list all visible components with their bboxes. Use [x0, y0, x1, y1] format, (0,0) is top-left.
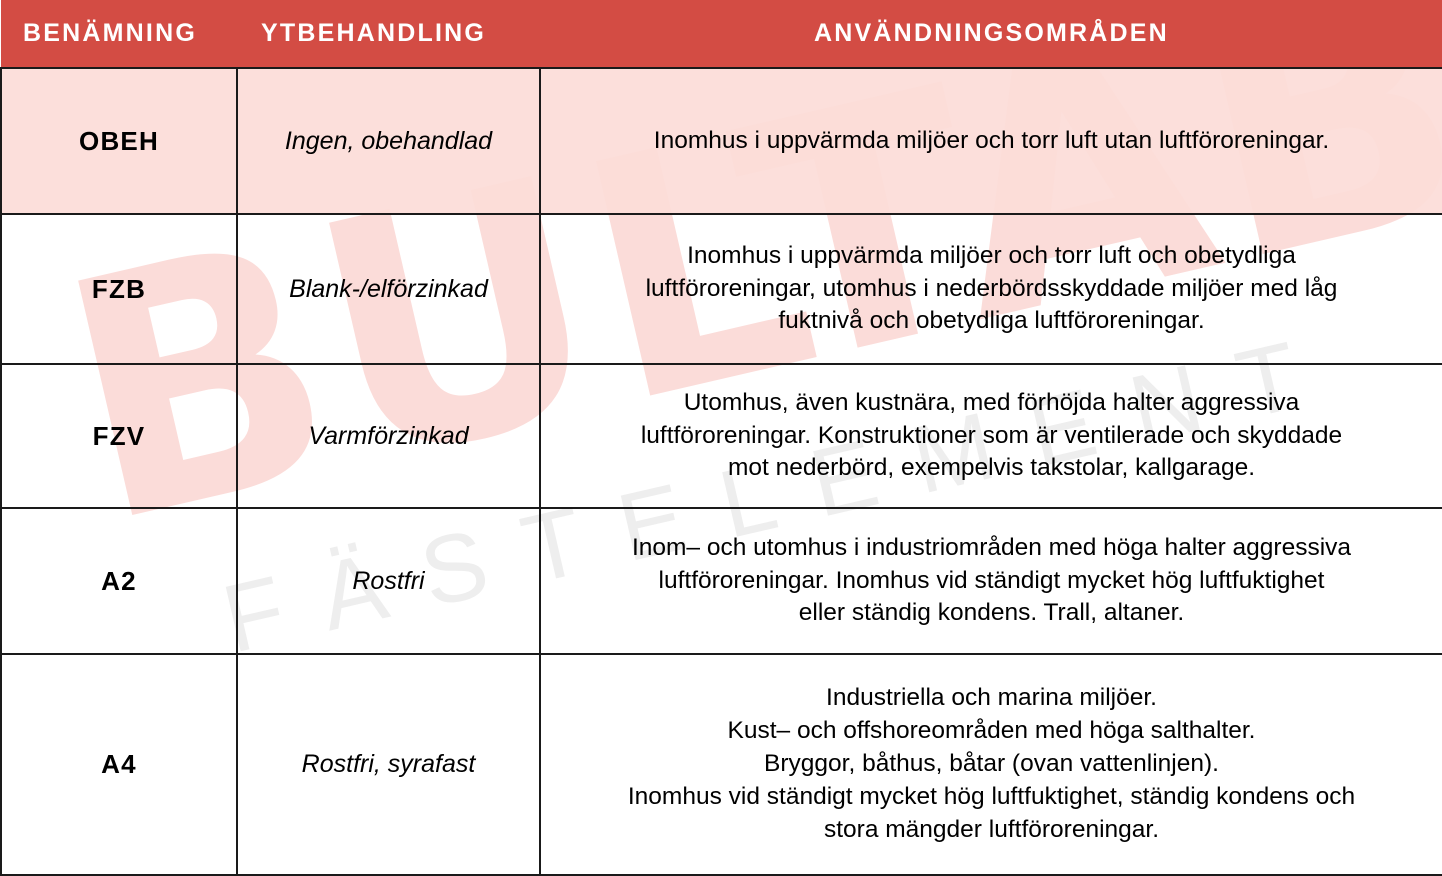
- cell-code: FZB: [1, 214, 237, 364]
- cell-surface-treatment: Rostfri, syrafast: [237, 654, 540, 875]
- usage-line: Kust– och offshoreområden med höga salth…: [557, 715, 1426, 748]
- usage-line: luftföroreningar. Inomhus vid ständigt m…: [557, 565, 1426, 598]
- surface-treatment-table-page: BULTAB FÄSTELEMENT BENÄMNING YTBEHANDLIN…: [0, 0, 1442, 876]
- cell-usage-areas: Inom– och utomhus i industriområden med …: [540, 508, 1442, 654]
- cell-code: A4: [1, 654, 237, 875]
- cell-usage-areas: Inomhus i uppvärmda miljöer och torr luf…: [540, 214, 1442, 364]
- usage-line: Industriella och marina miljöer.: [557, 682, 1426, 715]
- usage-line: Inomhus i uppvärmda miljöer och torr luf…: [557, 125, 1426, 158]
- column-header-ytbehandling: YTBEHANDLING: [237, 0, 540, 68]
- usage-line: Inomhus i uppvärmda miljöer och torr luf…: [557, 240, 1426, 273]
- table-row: FZV Varmförzinkad Utomhus, även kustnära…: [1, 364, 1442, 508]
- usage-line: mot nederbörd, exempelvis takstolar, kal…: [557, 452, 1426, 485]
- usage-line: Bryggor, båthus, båtar (ovan vattenlinje…: [557, 748, 1426, 781]
- usage-line: fuktnivå och obetydliga luftföroreningar…: [557, 305, 1426, 338]
- table-body: OBEH Ingen, obehandlad Inomhus i uppvärm…: [1, 68, 1442, 875]
- cell-surface-treatment: Varmförzinkad: [237, 364, 540, 508]
- column-header-anvandningsomraden: ANVÄNDNINGSOMRÅDEN: [540, 0, 1442, 68]
- table-row: FZB Blank-/elförzinkad Inomhus i uppvärm…: [1, 214, 1442, 364]
- cell-code: FZV: [1, 364, 237, 508]
- cell-code: OBEH: [1, 68, 237, 214]
- usage-line: stora mängder luftföroreningar.: [557, 814, 1426, 847]
- cell-usage-areas: Industriella och marina miljöer. Kust– o…: [540, 654, 1442, 875]
- cell-surface-treatment: Blank-/elförzinkad: [237, 214, 540, 364]
- cell-usage-areas: Inomhus i uppvärmda miljöer och torr luf…: [540, 68, 1442, 214]
- column-header-benamning: BENÄMNING: [1, 0, 237, 68]
- surface-treatment-table: BENÄMNING YTBEHANDLING ANVÄNDNINGSOMRÅDE…: [0, 0, 1442, 876]
- table-row: OBEH Ingen, obehandlad Inomhus i uppvärm…: [1, 68, 1442, 214]
- usage-line: Inom– och utomhus i industriområden med …: [557, 532, 1426, 565]
- cell-surface-treatment: Ingen, obehandlad: [237, 68, 540, 214]
- usage-line: eller ständig kondens. Trall, altaner.: [557, 597, 1426, 630]
- usage-line: Utomhus, även kustnära, med förhöjda hal…: [557, 387, 1426, 420]
- usage-line: Inomhus vid ständigt mycket hög luftfukt…: [557, 781, 1426, 814]
- cell-usage-areas: Utomhus, även kustnära, med förhöjda hal…: [540, 364, 1442, 508]
- cell-code: A2: [1, 508, 237, 654]
- usage-line: luftföroreningar, utomhus i nederbördssk…: [557, 273, 1426, 306]
- table-row: A4 Rostfri, syrafast Industriella och ma…: [1, 654, 1442, 875]
- table-header-row: BENÄMNING YTBEHANDLING ANVÄNDNINGSOMRÅDE…: [1, 0, 1442, 68]
- cell-surface-treatment: Rostfri: [237, 508, 540, 654]
- table-header: BENÄMNING YTBEHANDLING ANVÄNDNINGSOMRÅDE…: [1, 0, 1442, 68]
- usage-line: luftföroreningar. Konstruktioner som är …: [557, 420, 1426, 453]
- table-row: A2 Rostfri Inom– och utomhus i industrio…: [1, 508, 1442, 654]
